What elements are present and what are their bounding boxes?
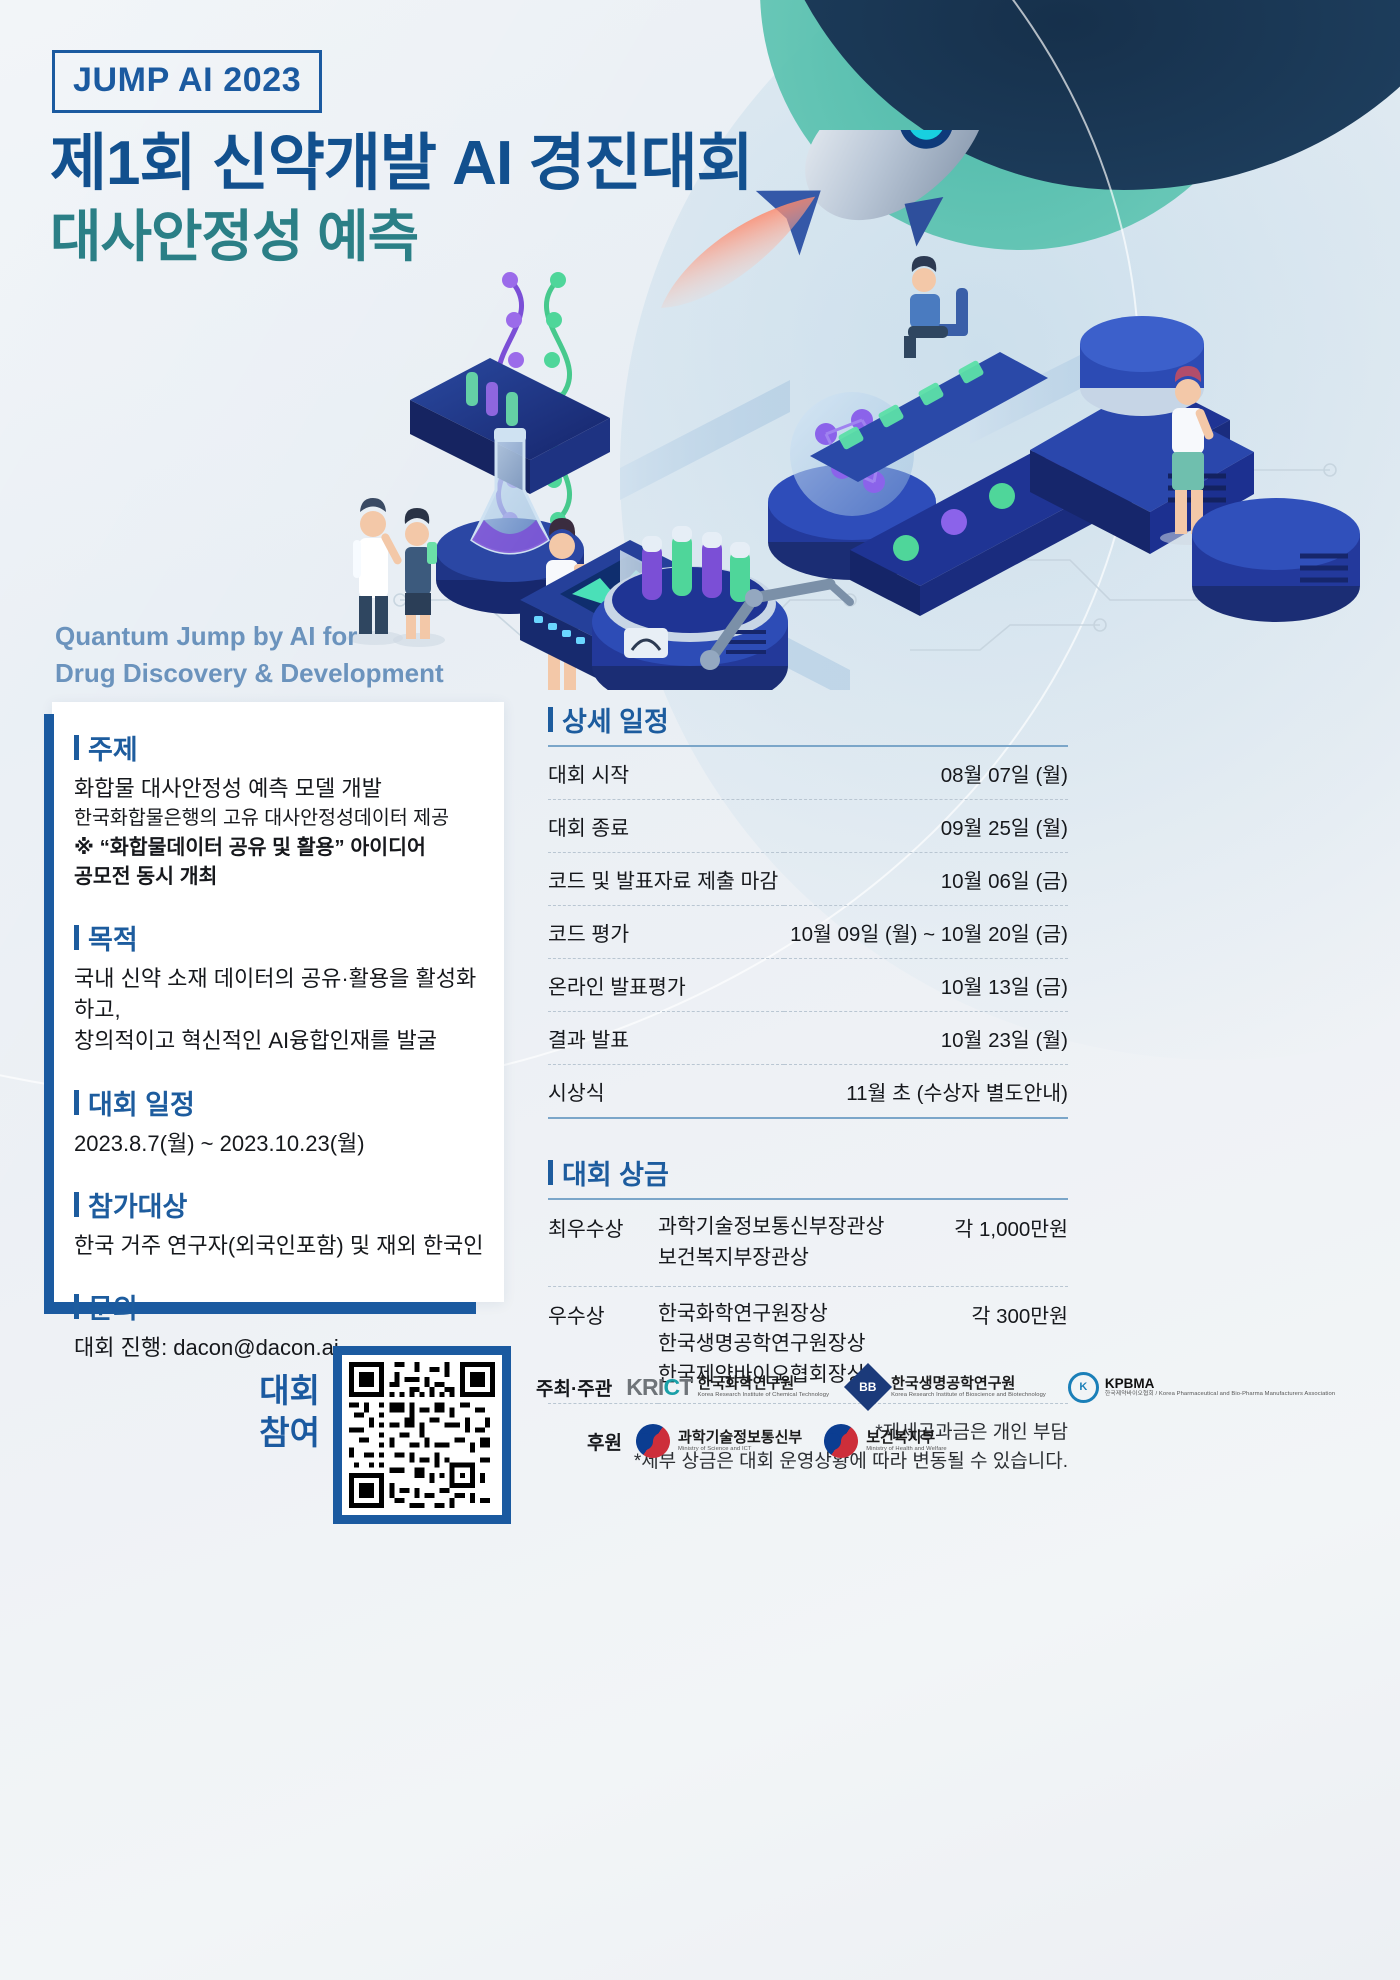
lab-illustration: .PY bbox=[150, 130, 1380, 690]
schedule-date: 10월 13일 (금) bbox=[784, 959, 1068, 1012]
schedule-date: 10월 23일 (월) bbox=[784, 1012, 1068, 1065]
logo-mohw: 보건복지부 Ministry of Health and Welfare bbox=[824, 1424, 947, 1458]
participate-label-line1: 대회 bbox=[258, 1370, 320, 1412]
participate-label: 대회 참여 bbox=[258, 1370, 320, 1454]
purpose-heading-row: 목적 bbox=[74, 918, 494, 957]
kpbma-name-en: 한국제약바이오협회 / Korea Pharmaceutical and Bio… bbox=[1105, 1391, 1335, 1397]
topic-heading: 주제 bbox=[88, 728, 138, 767]
prize-label: 최우수상 bbox=[548, 1200, 658, 1286]
audience-line1: 한국 거주 연구자(외국인포함) 및 재외 한국인 bbox=[74, 1230, 494, 1261]
poster-tagline: Quantum Jump by AI for Drug Discovery & … bbox=[55, 618, 444, 692]
schedule-label: 코드 및 발표자료 제출 마감 bbox=[548, 853, 784, 906]
detailed-schedule-table: 대회 시작 08월 07일 (월) 대회 종료 09월 25일 (월) 코드 및… bbox=[548, 747, 1068, 1119]
schedule-date: 08월 07일 (월) bbox=[784, 747, 1068, 800]
logo-msit: 과학기술정보통신부 Ministry of Science and ICT bbox=[636, 1424, 802, 1458]
event-badge: JUMP AI 2023 bbox=[52, 50, 322, 113]
table-row: 대회 종료 09월 25일 (월) bbox=[548, 800, 1068, 853]
section-topic: 주제 화합물 대사안정성 예측 모델 개발 한국화합물은행의 고유 대사안정성데… bbox=[74, 728, 494, 892]
table-row: 시상식 11월 초 (수상자 별도안내) bbox=[548, 1065, 1068, 1119]
spacer-2 bbox=[74, 1057, 494, 1083]
host-role-label: 주최·주관 bbox=[536, 1374, 612, 1401]
heading-bar-icon bbox=[74, 1192, 79, 1217]
logo-krict: KRICT 한국화학연구원 Korea Research Institute o… bbox=[626, 1374, 829, 1401]
heading-bar-icon bbox=[74, 925, 79, 950]
table-row: 최우수상 과학기술정보통신부장관상 보건복지부장관상 각 1,000만원 bbox=[548, 1200, 1068, 1286]
schedule-label: 코드 평가 bbox=[548, 906, 784, 959]
schedule-label: 시상식 bbox=[548, 1065, 784, 1119]
spacer-4 bbox=[74, 1261, 494, 1287]
kribb-text: 한국생명공학연구원 Korea Research Institute of Bi… bbox=[891, 1376, 1046, 1398]
prizes-heading-row: 대회 상금 bbox=[548, 1153, 1068, 1192]
kpbma-text: KPBMA 한국제약바이오협회 / Korea Pharmaceutical a… bbox=[1105, 1377, 1335, 1397]
table-row: 온라인 발표평가 10월 13일 (금) bbox=[548, 959, 1068, 1012]
mohw-name-ko: 보건복지부 bbox=[866, 1430, 947, 1446]
msit-text: 과학기술정보통신부 Ministry of Science and ICT bbox=[678, 1430, 802, 1452]
audience-heading-row: 참가대상 bbox=[74, 1185, 494, 1224]
schedule-label: 대회 시작 bbox=[548, 747, 784, 800]
topic-heading-row: 주제 bbox=[74, 728, 494, 767]
topic-line4: 공모전 동시 개최 bbox=[74, 862, 494, 892]
msit-name-en: Ministry of Science and ICT bbox=[678, 1446, 802, 1452]
schedule-label: 온라인 발표평가 bbox=[548, 959, 784, 1012]
section-audience: 참가대상 한국 거주 연구자(외국인포함) 및 재외 한국인 bbox=[74, 1185, 494, 1261]
schedule-heading-row: 대회 일정 bbox=[74, 1083, 494, 1122]
schedule-date: 11월 초 (수상자 별도안내) bbox=[784, 1065, 1068, 1119]
kribb-diamond-icon: BB bbox=[844, 1363, 892, 1411]
schedule-date: 09월 25일 (월) bbox=[784, 800, 1068, 853]
table-row: 코드 평가 10월 09일 (월) ~ 10월 20일 (금) bbox=[548, 906, 1068, 959]
detailed-schedule-heading-row: 상세 일정 bbox=[548, 700, 1068, 739]
heading-bar-icon bbox=[548, 707, 553, 732]
topic-line1: 화합물 대사안정성 예측 모델 개발 bbox=[74, 773, 494, 804]
table-row: 코드 및 발표자료 제출 마감 10월 06일 (금) bbox=[548, 853, 1068, 906]
msit-name-ko: 과학기술정보통신부 bbox=[678, 1430, 802, 1446]
award-name: 과학기술정보통신부장관상 bbox=[658, 1212, 931, 1243]
topic-line3: ※ “화합물데이터 공유 및 활용” 아이디어 bbox=[74, 833, 494, 863]
heading-bar-icon bbox=[74, 1090, 79, 1115]
section-purpose: 목적 국내 신약 소재 데이터의 공유·활용을 활성화하고, 창의적이고 혁신적… bbox=[74, 918, 494, 1057]
schedule-heading: 대회 일정 bbox=[88, 1083, 195, 1122]
contact-heading-row: 문의 bbox=[74, 1287, 494, 1326]
tagline-line1: Quantum Jump by AI for bbox=[55, 618, 444, 655]
schedule-label: 대회 종료 bbox=[548, 800, 784, 853]
sponsors-row: 후원 과학기술정보통신부 Ministry of Science and ICT… bbox=[536, 1424, 1096, 1458]
left-card-accent-bar bbox=[44, 714, 54, 1314]
award-name: 한국생명공학연구원장상 bbox=[658, 1329, 931, 1360]
schedule-date: 10월 09일 (월) ~ 10월 20일 (금) bbox=[784, 906, 1068, 959]
award-name: 보건복지부장관상 bbox=[658, 1243, 931, 1274]
schedule-label: 결과 발표 bbox=[548, 1012, 784, 1065]
purpose-line1: 국내 신약 소재 데이터의 공유·활용을 활성화하고, bbox=[74, 963, 494, 1025]
tagline-line2: Drug Discovery & Development bbox=[55, 655, 444, 692]
section-schedule: 대회 일정 2023.8.7(월) ~ 2023.10.23(월) bbox=[74, 1083, 494, 1159]
audience-heading: 참가대상 bbox=[88, 1185, 187, 1224]
award-name: 한국화학연구원장상 bbox=[658, 1299, 931, 1330]
table-row: 대회 시작 08월 07일 (월) bbox=[548, 747, 1068, 800]
logo-kribb: BB 한국생명공학연구원 Korea Research Institute of… bbox=[851, 1370, 1046, 1404]
prize-awards: 과학기술정보통신부장관상 보건복지부장관상 bbox=[658, 1200, 931, 1286]
right-column: 상세 일정 대회 시작 08월 07일 (월) 대회 종료 09월 25일 (월… bbox=[548, 700, 1068, 1477]
krict-name-en: Korea Research Institute of Chemical Tec… bbox=[698, 1392, 830, 1398]
sponsor-role-label: 후원 bbox=[536, 1428, 622, 1455]
qr-code[interactable] bbox=[333, 1346, 511, 1524]
prizes-heading: 대회 상금 bbox=[562, 1153, 669, 1192]
kpbma-name-ko: KPBMA bbox=[1105, 1377, 1335, 1391]
purpose-line2: 창의적이고 혁신적인 AI융합인재를 발굴 bbox=[74, 1025, 494, 1056]
prize-amount: 각 1,000만원 bbox=[931, 1200, 1068, 1286]
krict-text: 한국화학연구원 Korea Research Institute of Chem… bbox=[698, 1376, 830, 1398]
purpose-heading: 목적 bbox=[88, 918, 138, 957]
schedule-range: 2023.8.7(월) ~ 2023.10.23(월) bbox=[74, 1128, 494, 1159]
heading-bar-icon bbox=[548, 1160, 553, 1185]
kribb-name-en: Korea Research Institute of Bioscience a… bbox=[891, 1392, 1046, 1398]
krict-wordmark-icon: KRICT bbox=[626, 1374, 692, 1401]
kribb-name-ko: 한국생명공학연구원 bbox=[891, 1376, 1046, 1392]
mohw-text: 보건복지부 Ministry of Health and Welfare bbox=[866, 1430, 947, 1452]
footer-logos: 주최·주관 KRICT 한국화학연구원 Korea Research Insti… bbox=[536, 1370, 1096, 1478]
taegeuk-icon bbox=[636, 1424, 670, 1458]
table-row: 결과 발표 10월 23일 (월) bbox=[548, 1012, 1068, 1065]
participate-label-line2: 참여 bbox=[258, 1412, 320, 1454]
heading-bar-icon bbox=[74, 1294, 79, 1319]
topic-line2: 한국화합물은행의 고유 대사안정성데이터 제공 bbox=[74, 804, 494, 832]
hosts-row: 주최·주관 KRICT 한국화학연구원 Korea Research Insti… bbox=[536, 1370, 1096, 1404]
spacer-3 bbox=[74, 1159, 494, 1185]
krict-name-ko: 한국화학연구원 bbox=[698, 1376, 830, 1392]
heading-bar-icon bbox=[74, 735, 79, 760]
mohw-name-en: Ministry of Health and Welfare bbox=[866, 1446, 947, 1452]
detailed-schedule-heading: 상세 일정 bbox=[562, 700, 669, 739]
kpbma-circle-icon: K bbox=[1068, 1372, 1099, 1403]
spacer-1 bbox=[74, 892, 494, 918]
schedule-date: 10월 06일 (금) bbox=[784, 853, 1068, 906]
contact-heading: 문의 bbox=[88, 1287, 138, 1326]
taegeuk-icon bbox=[824, 1424, 858, 1458]
spacer-right-1 bbox=[548, 1119, 1068, 1153]
logo-kpbma: K KPBMA 한국제약바이오협회 / Korea Pharmaceutical… bbox=[1068, 1372, 1335, 1403]
left-card-content: 주제 화합물 대사안정성 예측 모델 개발 한국화합물은행의 고유 대사안정성데… bbox=[74, 728, 494, 1363]
poster-root: JUMP AI 2023 제1회 신약개발 AI 경진대회 대사안정성 예측 bbox=[0, 0, 1400, 1980]
